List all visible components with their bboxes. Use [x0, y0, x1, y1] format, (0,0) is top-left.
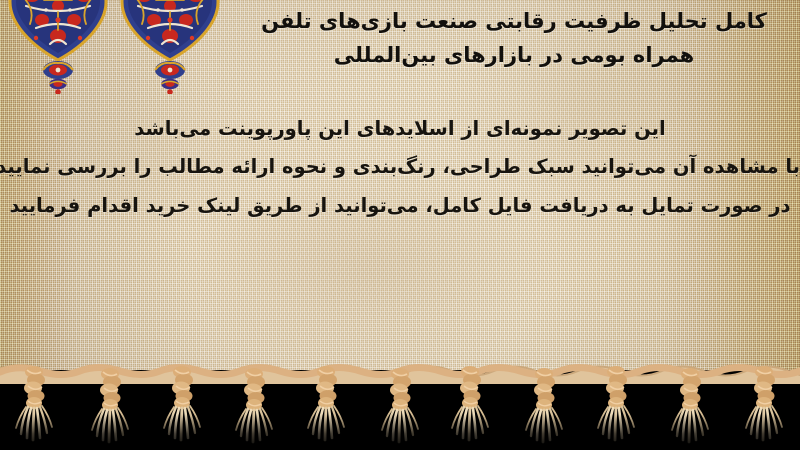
carpet-medallion-motif-right — [118, 0, 222, 94]
knotted-tassel-fringe — [0, 352, 800, 450]
slide-canvas: کامل تحلیل ظرفیت رقابتی صنعت بازی‌های تل… — [0, 0, 800, 450]
tassel-group — [0, 352, 800, 450]
title-line-2: همراه بومی در بازارهای بین‌المللی — [244, 38, 784, 72]
title-line-1: کامل تحلیل ظرفیت رقابتی صنعت بازی‌های تل… — [244, 4, 784, 38]
carpet-medallion-motif-left — [6, 0, 110, 94]
body-line-1: این تصویر نمونه‌ای از اسلایدهای این پاور… — [0, 110, 800, 148]
slide-title: کامل تحلیل ظرفیت رقابتی صنعت بازی‌های تل… — [244, 4, 784, 72]
body-line-3: در صورت تمایل به دریافت فایل کامل، می‌تو… — [0, 187, 800, 225]
body-line-2: با مشاهده آن می‌توانید سبک طراحی، رنگ‌بن… — [0, 148, 800, 186]
slide-body: این تصویر نمونه‌ای از اسلایدهای این پاور… — [0, 110, 800, 225]
